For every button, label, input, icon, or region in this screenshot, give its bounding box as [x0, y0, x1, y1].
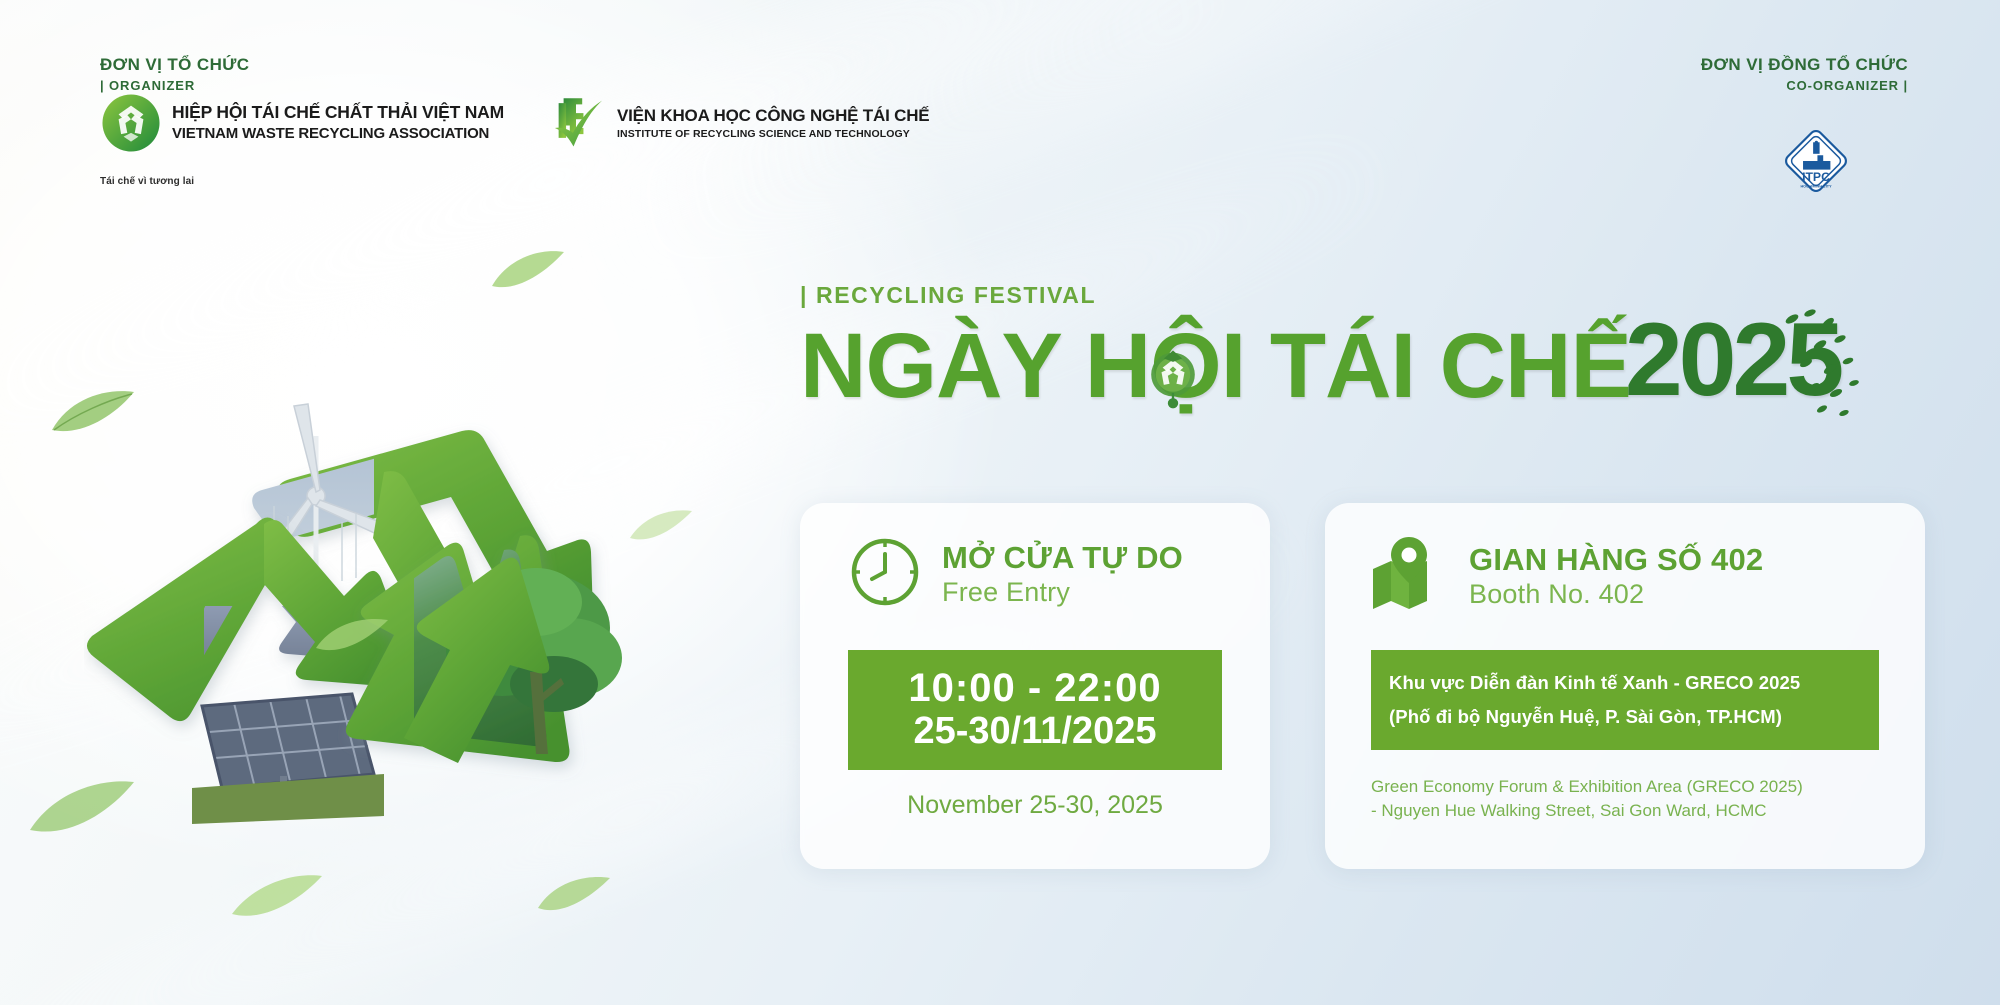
light-streak [536, 0, 1803, 318]
vwra-name-en: VIETNAM WASTE RECYCLING ASSOCIATION [172, 124, 504, 144]
organizer-logo-institute: VIỆN KHOA HỌC CÔNG NGHỆ TÁI CHẾ INSTITUT… [545, 92, 929, 154]
itpc-logo-icon: ITPC HOCHIMINH CITY [1780, 125, 1852, 197]
booth-title-vn: GIAN HÀNG SỐ 402 [1469, 543, 1763, 576]
institute-checkmark-logo-icon [545, 92, 607, 154]
institute-logo-text: VIỆN KHOA HỌC CÔNG NGHỆ TÁI CHẾ INSTITUT… [617, 105, 929, 142]
organizer-label-vn: ĐƠN VỊ TỔ CHỨC [100, 55, 249, 75]
title-block: | RECYCLING FESTIVAL NGÀY HỘI TÁI CHẾ 20… [800, 282, 1840, 411]
institute-name-en: INSTITUTE OF RECYCLING SCIENCE AND TECHN… [617, 127, 929, 142]
map-pin-icon [1371, 535, 1447, 618]
vwra-tagline: Tái chế vì tương lai [100, 176, 194, 187]
title-row: NGÀY HỘI TÁI CHẾ 2025 [800, 313, 1840, 411]
title-year: 2025 [1625, 313, 1840, 409]
co-organizer-label-vn: ĐƠN VỊ ĐỒNG TỔ CHỨC [1701, 55, 1908, 75]
opening-hours-title-en: Free Entry [942, 576, 1183, 608]
page-title: NGÀY HỘI TÁI CHẾ [800, 321, 1631, 411]
opening-hours-titles: MỞ CỬA TỰ DO Free Entry [942, 541, 1183, 609]
vwra-name-vn: HIỆP HỘI TÁI CHẾ CHẤT THẢI VIỆT NAM [172, 102, 504, 124]
booth-location-line2: (Phố đi bộ Nguyễn Huệ, P. Sài Gòn, TP.HC… [1389, 705, 1879, 730]
vwra-logo-text: HIỆP HỘI TÁI CHẾ CHẤT THẢI VIỆT NAM VIET… [172, 102, 504, 143]
opening-hours-title-vn: MỞ CỬA TỰ DO [942, 541, 1183, 574]
booth-note-en: Green Economy Forum & Exhibition Area (G… [1371, 775, 1911, 823]
opening-hours-time: 10:00 - 22:00 [908, 667, 1161, 710]
booth-titles: GIAN HÀNG SỐ 402 Booth No. 402 [1469, 543, 1763, 611]
organizer-logo-vwra: HIỆP HỘI TÁI CHẾ CHẤT THẢI VIỆT NAM VIET… [100, 92, 504, 154]
booth-title-en: Booth No. 402 [1469, 578, 1763, 610]
opening-hours-note-en: November 25-30, 2025 [800, 791, 1270, 820]
booth-note-line2: - Nguyen Hue Walking Street, Sai Gon War… [1371, 799, 1911, 823]
booth-location-line1: Khu vực Diễn đàn Kinh tế Xanh - GRECO 20… [1389, 671, 1879, 696]
booth-location-band: Khu vực Diễn đàn Kinh tế Xanh - GRECO 20… [1371, 650, 1879, 750]
poster-canvas: ĐƠN VỊ TỔ CHỨC | ORGANIZER HIỆP HỘI TÁI … [0, 0, 2000, 1005]
co-organizer-heading: ĐƠN VỊ ĐỒNG TỔ CHỨC CO-ORGANIZER | [1701, 55, 1908, 94]
opening-hours-band: 10:00 - 22:00 25-30/11/2025 [848, 650, 1222, 770]
organizer-heading: ĐƠN VỊ TỔ CHỨC | ORGANIZER [100, 55, 249, 94]
booth-card: GIAN HÀNG SỐ 402 Booth No. 402 Khu vực D… [1325, 503, 1925, 869]
opening-hours-card: MỞ CỬA TỰ DO Free Entry 10:00 - 22:00 25… [800, 503, 1270, 869]
svg-text:HOCHIMINH CITY: HOCHIMINH CITY [1800, 185, 1832, 189]
co-organizer-label-en: CO-ORGANIZER | [1701, 78, 1908, 95]
booth-card-header: GIAN HÀNG SỐ 402 Booth No. 402 [1325, 503, 1925, 618]
svg-text:ITPC: ITPC [1802, 170, 1830, 184]
recycling-emblem-icon [1144, 347, 1202, 409]
opening-hours-dates: 25-30/11/2025 [913, 710, 1156, 753]
institute-name-vn: VIỆN KHOA HỌC CÔNG NGHỆ TÁI CHẾ [617, 105, 929, 127]
recycling-logo-icon [100, 92, 162, 154]
recycling-arrows-photo-collage [84, 276, 714, 906]
booth-note-line1: Green Economy Forum & Exhibition Area (G… [1371, 775, 1911, 799]
clock-icon [848, 535, 922, 614]
opening-hours-card-header: MỞ CỬA TỰ DO Free Entry [800, 503, 1270, 614]
